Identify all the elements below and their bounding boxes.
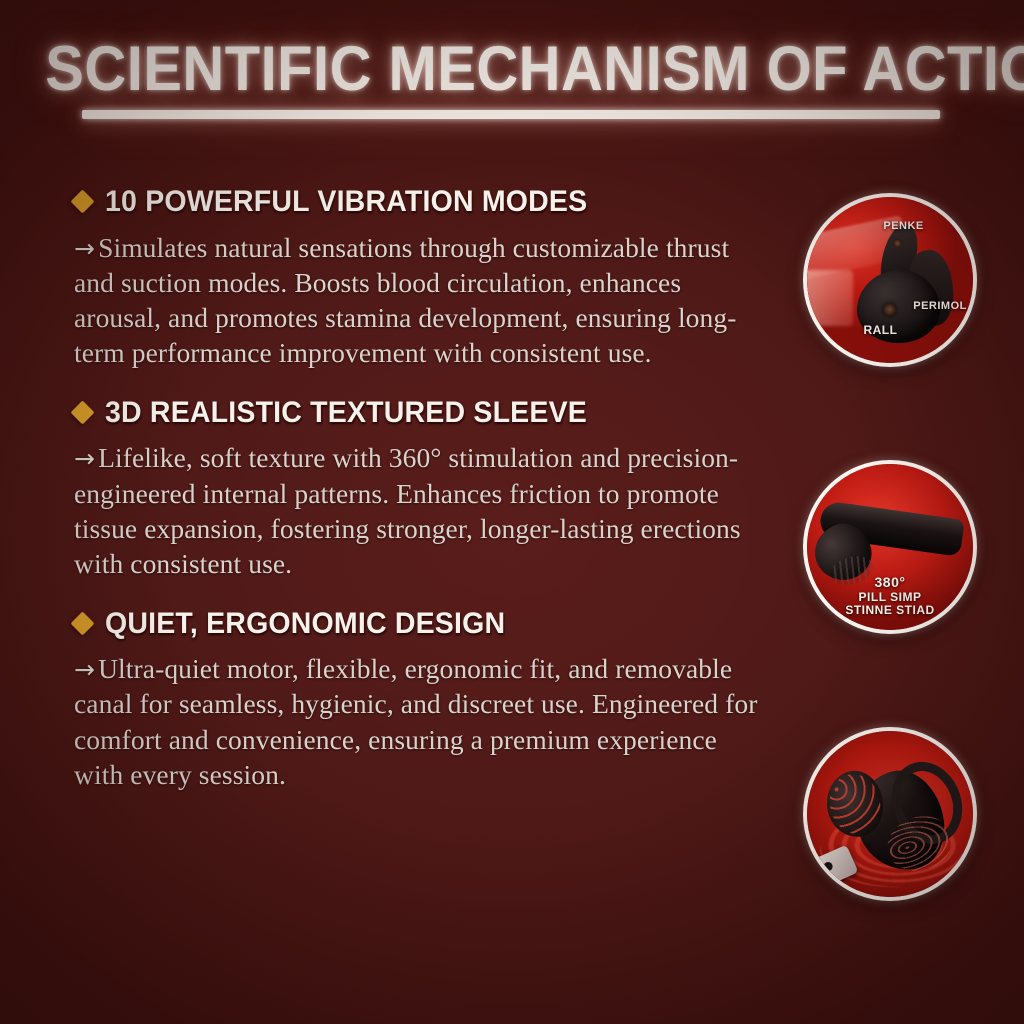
product-photo-inner: 380° PILL SIMP STINNE STIAD [807, 464, 973, 630]
product-photo-ergonomic-design [803, 727, 977, 901]
page-title: SCIENTIFIC MECHANISM OF ACTION [45, 38, 1024, 101]
feature-description: →Simulates natural sensations through cu… [74, 230, 764, 371]
feature-heading-row: QUIET, ERGONOMIC DESIGN [74, 608, 764, 640]
photo-highlight-shape [807, 270, 853, 326]
feature-description: →Ultra-quiet motor, flexible, ergonomic … [74, 651, 764, 792]
product-photo-inner: PENKE RALL PERIMOL [807, 197, 973, 363]
product-detail-dot [893, 239, 902, 248]
feature-list: 10 POWERFUL VIBRATION MODES →Simulates n… [74, 186, 764, 792]
photo-label-360-degree: 380° [875, 574, 906, 590]
feature-heading-row: 10 POWERFUL VIBRATION MODES [74, 186, 764, 218]
feature-heading-row: 3D REALISTIC TEXTURED SLEEVE [74, 397, 764, 429]
feature-description-text: Simulates natural sensations through cus… [74, 232, 737, 369]
photo-label-pill-simp: PILL SIMP [859, 590, 922, 604]
feature-heading: QUIET, ERGONOMIC DESIGN [105, 608, 505, 640]
feature-description: →Lifelike, soft texture with 360° stimul… [74, 440, 764, 581]
photo-label-perimol: PERIMOL [913, 300, 967, 312]
diamond-bullet-icon [70, 401, 94, 425]
diamond-bullet-icon [70, 190, 94, 214]
arrow-right-icon: → [74, 234, 98, 263]
feature-heading: 3D REALISTIC TEXTURED SLEEVE [105, 397, 587, 429]
feature-heading: 10 POWERFUL VIBRATION MODES [105, 186, 587, 218]
title-underline-rule [82, 110, 940, 119]
page-title-container: SCIENTIFIC MECHANISM OF ACTION [0, 38, 1024, 101]
feature-block-vibration-modes: 10 POWERFUL VIBRATION MODES →Simulates n… [74, 186, 764, 371]
product-photo-textured-sleeve: 380° PILL SIMP STINNE STIAD [803, 460, 977, 634]
photo-label-rall: RALL [863, 323, 897, 337]
arrow-right-icon: → [74, 655, 98, 684]
feature-description-text: Lifelike, soft texture with 360° stimula… [74, 442, 741, 579]
feature-block-textured-sleeve: 3D REALISTIC TEXTURED SLEEVE →Lifelike, … [74, 397, 764, 582]
arrow-right-icon: → [74, 444, 98, 473]
feature-block-ergonomic-design: QUIET, ERGONOMIC DESIGN →Ultra-quiet mot… [74, 608, 764, 793]
photo-label-stinne-stiad: STINNE STIAD [845, 603, 934, 617]
diamond-bullet-icon [70, 611, 94, 635]
product-feature-poster: SCIENTIFIC MECHANISM OF ACTION 10 POWERF… [0, 0, 1024, 1024]
product-photo-inner [807, 731, 973, 897]
photo-label-penke: PENKE [883, 220, 923, 232]
feature-description-text: Ultra-quiet motor, flexible, ergonomic f… [74, 653, 758, 790]
product-photo-vibration-modes: PENKE RALL PERIMOL [803, 193, 977, 367]
